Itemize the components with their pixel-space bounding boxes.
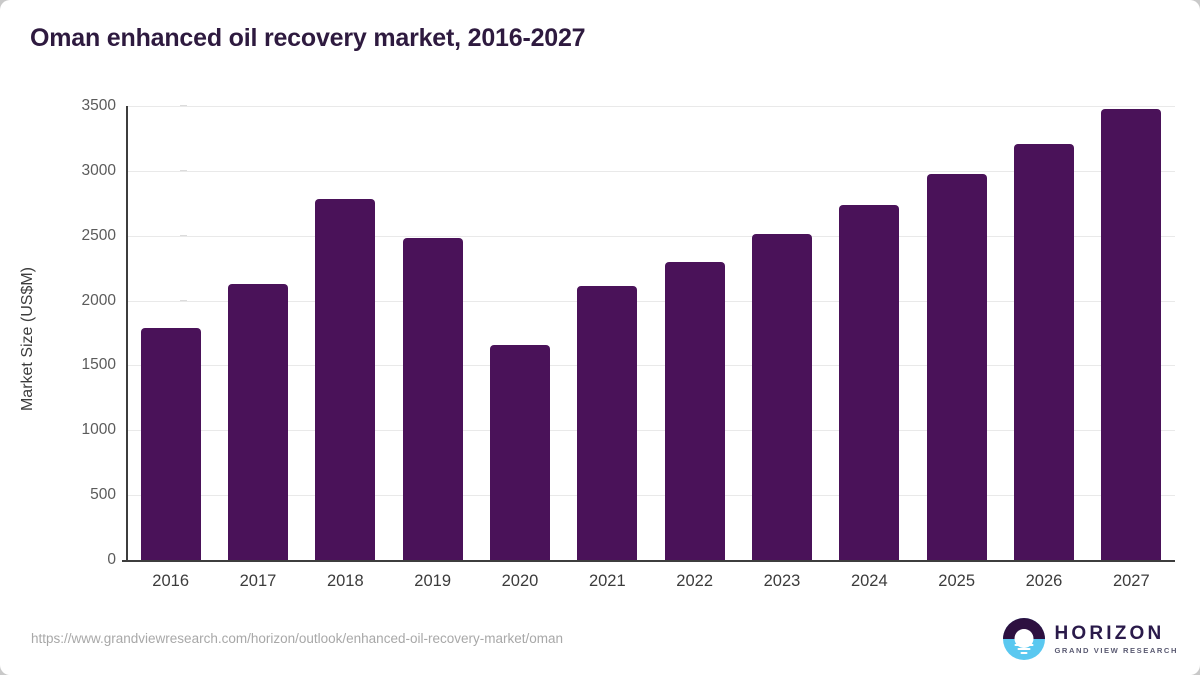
bar-group: 2022 (651, 0, 738, 675)
bar[interactable] (1014, 144, 1074, 560)
bar[interactable] (577, 286, 637, 560)
logo-text-block: HORIZON GRAND VIEW RESEARCH (1054, 624, 1178, 655)
x-tick-label: 2016 (152, 572, 189, 591)
horizon-sun-icon (1003, 618, 1045, 660)
x-tick-label: 2018 (327, 572, 364, 591)
bar[interactable] (490, 345, 550, 560)
bar[interactable] (839, 205, 899, 560)
x-tick-label: 2022 (676, 572, 713, 591)
bar-group: 2024 (826, 0, 913, 675)
logo-tagline: GRAND VIEW RESEARCH (1054, 647, 1178, 655)
bar-group: 2019 (389, 0, 476, 675)
x-tick-label: 2020 (502, 572, 539, 591)
bar[interactable] (752, 234, 812, 560)
x-tick-label: 2019 (414, 572, 451, 591)
bar-group: 2016 (127, 0, 214, 675)
bar-group: 2021 (564, 0, 651, 675)
bar-group: 2027 (1088, 0, 1175, 675)
x-tick-label: 2026 (1026, 572, 1063, 591)
y-tick-label: 500 (90, 486, 116, 504)
x-tick-label: 2024 (851, 572, 888, 591)
y-tick-label: 3000 (82, 162, 116, 180)
y-tick-label: 2000 (82, 292, 116, 310)
y-tick-label: 1500 (82, 356, 116, 374)
x-tick-label: 2025 (938, 572, 975, 591)
bar[interactable] (927, 174, 987, 560)
y-tick-label: 3500 (82, 97, 116, 115)
x-tick-label: 2023 (764, 572, 801, 591)
y-tick-label: 2500 (82, 227, 116, 245)
bar[interactable] (1101, 109, 1161, 560)
bar[interactable] (228, 284, 288, 560)
bar-series: 2016201720182019202020212022202320242025… (127, 0, 1175, 675)
chart-plot-area: Market Size (US$M) 050010001500200025003… (0, 0, 1200, 675)
bar[interactable] (315, 199, 375, 560)
bar-group: 2018 (302, 0, 389, 675)
y-axis-label: Market Size (US$M) (19, 159, 37, 519)
logo-name: HORIZON (1054, 624, 1178, 643)
brand-logo: HORIZON GRAND VIEW RESEARCH (1003, 618, 1178, 660)
bar-group: 2017 (214, 0, 301, 675)
bar-group: 2020 (476, 0, 563, 675)
x-tick-label: 2027 (1113, 572, 1150, 591)
bar[interactable] (665, 262, 725, 560)
x-tick-label: 2017 (240, 572, 277, 591)
chart-page: Oman enhanced oil recovery market, 2016-… (0, 0, 1200, 675)
bar[interactable] (141, 328, 201, 560)
bar[interactable] (403, 238, 463, 560)
y-axis-ticks: 0500100015002000250030003500 (60, 0, 116, 675)
y-tick-label: 1000 (82, 421, 116, 439)
bar-group: 2023 (738, 0, 825, 675)
source-url[interactable]: https://www.grandviewresearch.com/horizo… (31, 631, 563, 646)
bar-group: 2025 (913, 0, 1000, 675)
bar-group: 2026 (1000, 0, 1087, 675)
logo-ray-2 (1018, 648, 1031, 650)
logo-ray-3 (1021, 652, 1028, 654)
logo-ray-1 (1015, 644, 1034, 646)
y-tick-label: 0 (107, 551, 116, 569)
x-tick-label: 2021 (589, 572, 626, 591)
